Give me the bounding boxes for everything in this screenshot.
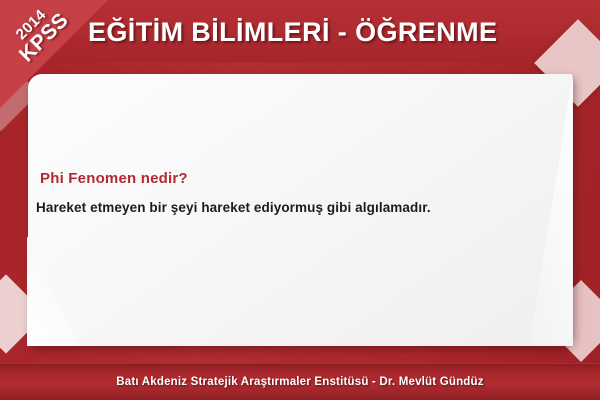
slide-root: EĞİTİM BİLİMLERİ - ÖĞRENME 2014 KPSS Phi…	[0, 0, 600, 400]
header-title: EĞİTİM BİLİMLERİ - ÖĞRENME	[88, 12, 558, 52]
card-peel-right	[529, 74, 573, 346]
card-peel-left	[27, 236, 79, 346]
content-card: Phi Fenomen nedir? Hareket etmeyen bir ş…	[28, 74, 572, 346]
answer-text: Hareket etmeyen bir şeyi hareket ediyorm…	[36, 200, 431, 215]
footer-band: Batı Akdeniz Stratejik Araştırmaler Enst…	[0, 363, 600, 400]
question-heading: Phi Fenomen nedir?	[40, 170, 188, 187]
footer-credit-text: Batı Akdeniz Stratejik Araştırmaler Enst…	[0, 364, 600, 400]
